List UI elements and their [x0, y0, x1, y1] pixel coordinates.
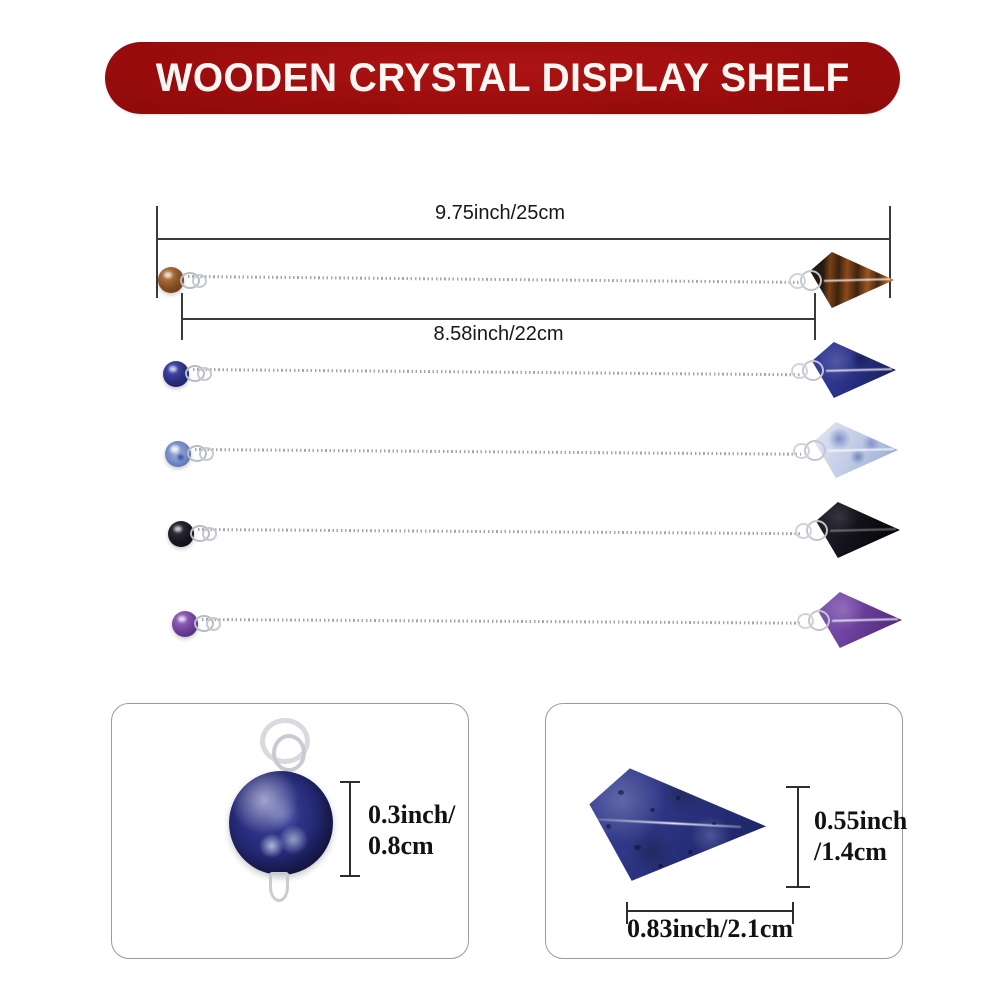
cone-height-top-tick [786, 786, 810, 788]
chain [193, 368, 801, 376]
bead-dim-bottom-tick [340, 875, 360, 877]
cone-speck [606, 824, 611, 829]
cone-height-rule [797, 786, 799, 888]
pendulum-row[interactable] [0, 248, 1000, 328]
pendant-cap-icon [793, 443, 810, 459]
cone-pendant [810, 252, 894, 308]
cone-height-label: 0.55inch /1.4cm [814, 806, 907, 867]
chain [195, 448, 801, 456]
bead-loop-icon [206, 617, 221, 631]
pendulum-row[interactable] [0, 502, 1000, 582]
bead-dim-top-tick [340, 781, 360, 783]
chain [202, 618, 802, 625]
jump-ring-icon [272, 734, 306, 772]
cone-detail-panel: 0.55inch /1.4cm 0.83inch/2.1cm [545, 703, 903, 959]
cone-speck [618, 790, 624, 795]
cone-speck [650, 808, 655, 812]
bead-pin-icon [269, 872, 289, 902]
page-title: WOODEN CRYSTAL DISPLAY SHELF [155, 56, 849, 101]
chain [188, 275, 800, 284]
cone-pendant [812, 342, 896, 398]
cone-speck [688, 850, 693, 854]
cone-height-bottom-tick [786, 886, 810, 888]
cone-pendant [818, 592, 902, 648]
pendant-cap-icon [797, 613, 814, 629]
total-length-label: 9.75inch/25cm [0, 202, 1000, 225]
bead-loop-icon [192, 274, 207, 288]
cone-pendant [814, 422, 898, 478]
chain [198, 528, 802, 535]
title-banner: WOODEN CRYSTAL DISPLAY SHELF [105, 42, 900, 114]
bead-detail-panel: 0.3inch/ 0.8cm [111, 703, 469, 959]
bead-loop-icon [199, 447, 214, 461]
cone-width-rule [626, 910, 794, 912]
cone-speck [658, 864, 663, 868]
pendant-cap-icon [791, 363, 808, 379]
pendant-cap-icon [795, 523, 812, 539]
cone-speck [712, 822, 716, 825]
cone-speck [676, 796, 680, 800]
cone-speck [634, 845, 641, 850]
cone-width-label: 0.83inch/2.1cm [626, 914, 794, 945]
bead-dim-rule [349, 781, 351, 877]
bead-loop-icon [202, 527, 217, 541]
cone-pendant [816, 502, 900, 558]
pendant-cap-icon [789, 273, 806, 289]
bead-dimension-label: 0.3inch/ 0.8cm [368, 800, 455, 861]
pendulum-row[interactable] [0, 342, 1000, 422]
pendulum-row[interactable] [0, 422, 1000, 502]
bead-closeup [229, 771, 333, 875]
total-length-rule [156, 238, 891, 240]
pendulum-row[interactable] [0, 592, 1000, 672]
bead-loop-icon [197, 367, 212, 381]
